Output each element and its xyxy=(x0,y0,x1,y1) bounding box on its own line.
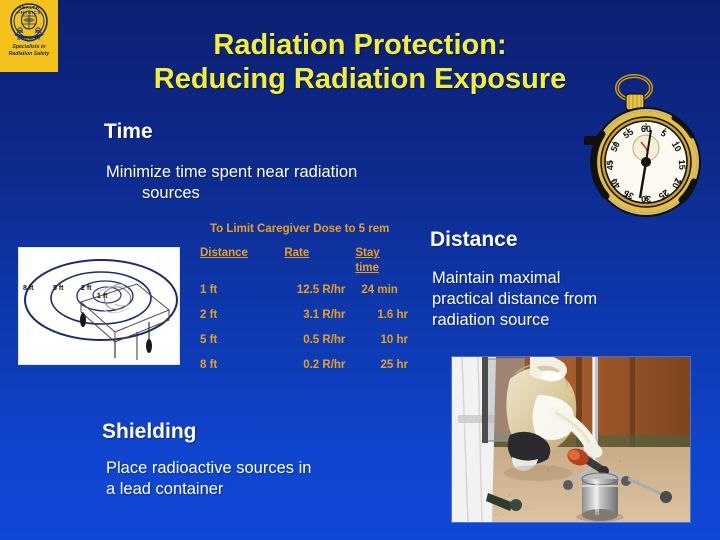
dose-table-head: Distance Rate Stay time xyxy=(200,246,422,278)
dose-table-grid: Distance Rate Stay time 1 ft12.5 R/hr24 … xyxy=(200,246,422,378)
cell-distance: 2 ft xyxy=(200,303,284,328)
table-row: 1 ft12.5 R/hr24 min xyxy=(200,278,422,303)
section-heading-time: Time xyxy=(104,120,153,144)
cell-distance: 1 ft xyxy=(200,278,284,303)
dose-table-header-row: Distance Rate Stay time xyxy=(200,246,422,278)
cell-stay-time: 1.6 hr xyxy=(355,303,422,328)
stopwatch-icon: 5 10 15 20 25 30 35 40 45 50 55 60 xyxy=(578,74,718,222)
ring-label-1ft: 1 ft xyxy=(97,293,108,300)
svg-text:45: 45 xyxy=(605,160,616,171)
section-body-distance: Maintain maximal practical distance from… xyxy=(432,268,702,331)
section-body-time: Minimize time spent near radiation sourc… xyxy=(106,162,506,204)
cell-distance: 5 ft xyxy=(200,328,284,353)
column-header-distance: Distance xyxy=(200,246,284,278)
table-row: 8 ft0.2 R/hr25 hr xyxy=(200,353,422,378)
section-body-shielding: Place radioactive sources in a lead cont… xyxy=(106,458,466,500)
shielding-body-line1: Place radioactive sources in xyxy=(106,458,466,479)
logo-tagline-line1: Specialists in xyxy=(12,44,45,50)
cell-stay-time: 10 hr xyxy=(355,328,422,353)
distance-body-line3: radiation source xyxy=(432,310,702,331)
photo-graphic xyxy=(452,357,690,522)
dose-table-caption: To Limit Caregiver Dose to 5 rem xyxy=(200,222,422,237)
cell-stay-time: 24 min xyxy=(355,278,422,303)
dose-rate-table: To Limit Caregiver Dose to 5 rem Distanc… xyxy=(200,222,422,378)
stopwatch-graphic: 5 10 15 20 25 30 35 40 45 50 55 60 xyxy=(578,74,718,222)
column-header-stay-time: Stay time xyxy=(355,246,422,278)
table-row: 2 ft3.1 R/hr1.6 hr xyxy=(200,303,422,328)
slide-canvas: HEALTH PHYSICS SOCIETY Specialists in Ra… xyxy=(0,0,720,540)
logo-tagline: Specialists in Radiation Safety xyxy=(0,44,58,58)
cell-stay-time: 25 hr xyxy=(355,353,422,378)
distance-body-line1: Maintain maximal xyxy=(432,268,702,289)
seal-text-bottom: SOCIETY xyxy=(6,36,52,41)
cell-rate: 0.5 R/hr xyxy=(284,328,355,353)
health-physics-society-logo: HEALTH PHYSICS SOCIETY Specialists in Ra… xyxy=(0,0,58,72)
cell-rate: 0.2 R/hr xyxy=(284,353,355,378)
time-body-line2: sources xyxy=(106,183,506,204)
slide-title: Radiation Protection: Reducing Radiation… xyxy=(60,28,660,96)
shielding-body-line2: a lead container xyxy=(106,479,466,500)
svg-text:15: 15 xyxy=(677,159,688,170)
seal-text-top: HEALTH PHYSICS xyxy=(6,5,52,15)
cell-rate: 3.1 R/hr xyxy=(284,303,355,328)
cell-distance: 8 ft xyxy=(200,353,284,378)
cell-rate: 12.5 R/hr xyxy=(284,278,355,303)
logo-tagline-line2: Radiation Safety xyxy=(9,51,50,57)
section-heading-distance: Distance xyxy=(430,228,518,252)
distance-rings-graphic: 8 ft 5 ft 2 ft 1 ft xyxy=(19,248,179,364)
column-header-stay-wrap: time xyxy=(355,262,379,274)
column-header-rate: Rate xyxy=(284,246,355,278)
slide-title-line1: Radiation Protection: xyxy=(60,28,660,62)
seal-icon: HEALTH PHYSICS SOCIETY xyxy=(6,3,52,43)
patient-bed-distance-diagram: 8 ft 5 ft 2 ft 1 ft xyxy=(18,247,180,365)
ring-label-2ft: 2 ft xyxy=(81,285,92,292)
svg-text:60: 60 xyxy=(641,124,651,134)
table-row: 5 ft0.5 R/hr10 hr xyxy=(200,328,422,353)
time-body-line1: Minimize time spent near radiation xyxy=(106,163,357,181)
column-header-stay: Stay xyxy=(355,247,379,259)
worker-handling-source-photo xyxy=(452,357,690,522)
ring-label-5ft: 5 ft xyxy=(53,285,64,292)
section-heading-shielding: Shielding xyxy=(102,420,197,444)
distance-body-line2: practical distance from xyxy=(432,289,702,310)
ring-label-8ft: 8 ft xyxy=(23,285,34,292)
slide-title-line2: Reducing Radiation Exposure xyxy=(60,62,660,96)
svg-text:30: 30 xyxy=(641,194,651,204)
dose-table-body: 1 ft12.5 R/hr24 min2 ft3.1 R/hr1.6 hr5 f… xyxy=(200,278,422,378)
